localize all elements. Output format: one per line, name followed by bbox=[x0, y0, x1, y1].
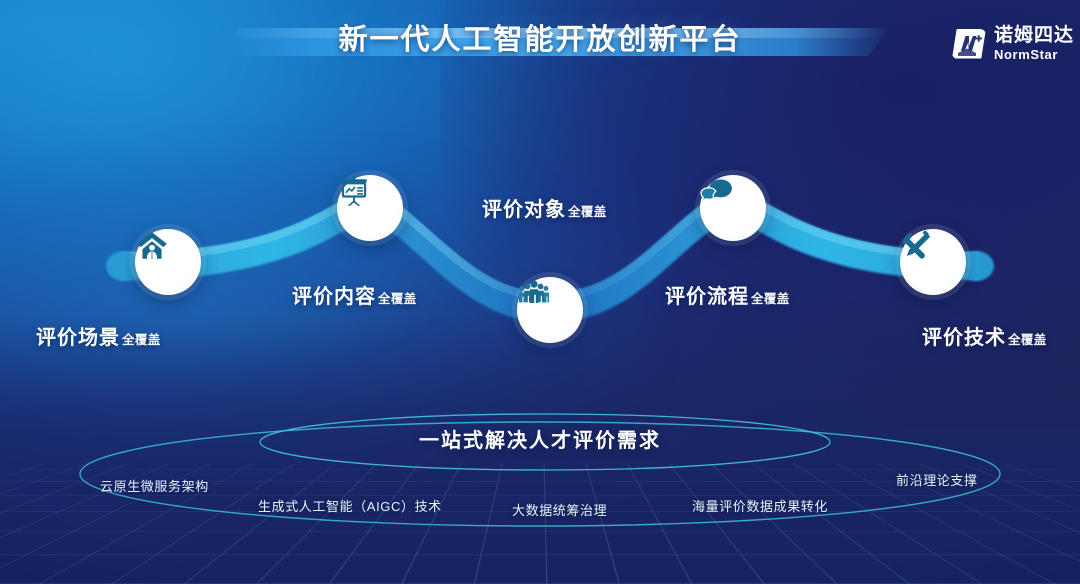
node-process[interactable] bbox=[700, 175, 766, 241]
node-label-content-main: 评价内容 bbox=[292, 280, 376, 309]
keyword-big-data: 大数据统筹治理 bbox=[512, 500, 607, 519]
keyword-aigc: 生成式人工智能（AIGC）技术 bbox=[258, 496, 442, 515]
node-label-target: 评价对象 全覆盖 bbox=[482, 193, 607, 222]
node-label-target-suffix: 全覆盖 bbox=[568, 201, 607, 220]
node-label-scene-main: 评价场景 bbox=[36, 321, 120, 350]
node-tech[interactable] bbox=[900, 229, 966, 295]
process-flow: 评价场景 全覆盖 评价内容 全覆盖 评价对象 全覆盖 评价流程 全覆盖 评价技术… bbox=[0, 140, 1080, 400]
node-label-tech-suffix: 全覆盖 bbox=[1008, 329, 1047, 348]
header: 新一代人工智能开放创新平台 诺姆四达 NormStar bbox=[0, 0, 1080, 92]
n-plus-mark-icon bbox=[952, 29, 986, 59]
node-target[interactable] bbox=[517, 277, 583, 343]
node-scene[interactable] bbox=[135, 229, 201, 295]
bottom-section: 一站式解决人才评价需求 云原生微服务架构 生成式人工智能（AIGC）技术 大数据… bbox=[0, 398, 1080, 584]
node-label-process-suffix: 全覆盖 bbox=[751, 288, 790, 307]
brand-logo-text: 诺姆四达 NormStar bbox=[994, 26, 1074, 61]
node-label-content: 评价内容 全覆盖 bbox=[292, 280, 417, 309]
center-slogan: 一站式解决人才评价需求 bbox=[0, 424, 1080, 453]
node-label-scene-suffix: 全覆盖 bbox=[122, 329, 161, 348]
brand-name-en: NormStar bbox=[994, 48, 1074, 61]
node-content[interactable] bbox=[337, 175, 403, 241]
node-label-tech: 评价技术 全覆盖 bbox=[922, 321, 1047, 350]
keyword-theory: 前沿理论支撑 bbox=[896, 470, 978, 489]
page-title: 新一代人工智能开放创新平台 bbox=[0, 16, 1080, 58]
keyword-cloud-native: 云原生微服务架构 bbox=[100, 476, 209, 495]
node-label-scene: 评价场景 全覆盖 bbox=[36, 321, 161, 350]
node-label-content-suffix: 全覆盖 bbox=[378, 288, 417, 307]
node-label-process-main: 评价流程 bbox=[665, 280, 749, 309]
node-label-process: 评价流程 全覆盖 bbox=[665, 280, 790, 309]
brand-logo[interactable]: 诺姆四达 NormStar bbox=[952, 26, 1074, 61]
keyword-data-results: 海量评价数据成果转化 bbox=[692, 496, 828, 515]
node-label-target-main: 评价对象 bbox=[482, 193, 566, 222]
slide-canvas: 新一代人工智能开放创新平台 诺姆四达 NormStar bbox=[0, 0, 1080, 584]
node-label-tech-main: 评价技术 bbox=[922, 321, 1006, 350]
brand-name-cn: 诺姆四达 bbox=[994, 26, 1074, 45]
